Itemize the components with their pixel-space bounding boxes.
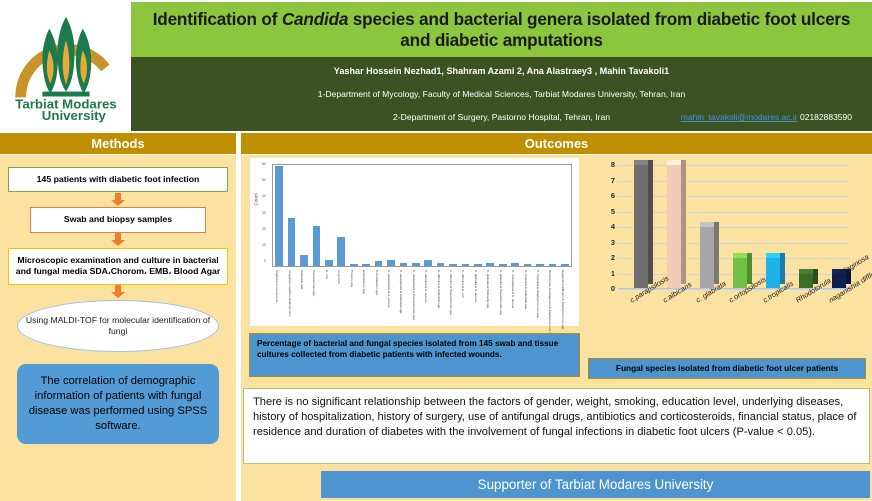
contact-phone: 02182883590 [800, 112, 852, 122]
bar-12 [424, 260, 432, 266]
bar-21 [536, 264, 544, 266]
xlabel-18: C. glabrata & Pseudomonas spp. [499, 270, 503, 315]
poster-root: Tarbiat Modares University Identificatio… [0, 0, 872, 501]
bar-15 [462, 264, 470, 266]
xlabel-23: Naganishia diffluens & Staphylococcus sp… [561, 270, 565, 330]
section-header-methods: Methods [0, 133, 236, 154]
xlabel-0: Staphylococcus aureus [275, 270, 279, 302]
bar-top [634, 160, 648, 165]
bar-8 [375, 261, 383, 266]
xlabel-14: C. albicans & Pseudomonas spp. [449, 270, 453, 316]
method-step-3: Microscopic examination and culture in b… [8, 248, 228, 285]
fungal-chart-panel: 012345678 c.parapsilosisc.albicansc. gla… [588, 157, 866, 355]
bar-top [667, 160, 681, 165]
xlabel-19: C. orthopsilosis & S. aureus [511, 270, 515, 308]
bar-top [700, 222, 714, 227]
bar-0 [275, 166, 283, 266]
bacterial-chart-panel: Count 0102030405060 Staphylococcus aureu… [249, 157, 580, 327]
bar-side [681, 160, 686, 284]
fungal-ytick-3: 3 [602, 238, 615, 247]
down-arrow-icon [110, 285, 126, 299]
university-logo: Tarbiat Modares University [0, 0, 131, 131]
logo-text-line2: University [41, 108, 106, 123]
xlabel-11: C. parapsilosis & Pseudomonas spp. [412, 270, 416, 321]
bar-front [766, 258, 780, 289]
supporter-banner: Supporter of Tarbiat Modares University [321, 471, 870, 498]
methods-column: 145 patients with diabetic foot infectio… [0, 155, 236, 501]
xlabel-8: Acinetobacter spp. [375, 270, 379, 296]
bar-side [714, 222, 719, 284]
poster-title-band: Identification of Candida species and ba… [131, 2, 872, 57]
fungal-bar-0 [634, 165, 648, 289]
xlabel-2: Klebsiella spp. [300, 270, 304, 290]
authors-affiliations-band: Yashar Hossein Nezhad1, Shahram Azami 2,… [131, 57, 872, 131]
xlabel-16: C. glabrata & S. aureus [474, 270, 478, 302]
method-step-1: 145 patients with diabetic foot infectio… [8, 167, 228, 192]
poster-header: Tarbiat Modares University Identificatio… [0, 0, 872, 131]
bar-front [667, 165, 681, 289]
xlabel-1: coagulase-negative staphylococci [288, 270, 292, 316]
affiliation-1: 1-Department of Mycology, Faculty of Med… [131, 89, 872, 99]
xlabel-4: E. coli [325, 270, 329, 278]
fungal-bar-4 [766, 258, 780, 289]
bacterial-chart-bars [273, 165, 571, 266]
spss-analysis-box: The correlation of demographic informati… [17, 364, 219, 444]
fungal-ytick-2: 2 [602, 253, 615, 262]
bar-14 [449, 264, 457, 266]
gridline-5 [618, 212, 850, 213]
flow-arrow-1 [8, 192, 228, 207]
bar-6 [350, 264, 358, 266]
xlabel-9: C. parapsilosis & S. aureus [387, 270, 391, 307]
ytick-0: 0 [252, 259, 266, 263]
bacterial-chart-caption: Percentage of bacterial and fungal speci… [249, 333, 580, 377]
xlabel-15: C. albicans & E. coli [461, 270, 465, 298]
gridline-3 [618, 243, 850, 244]
ytick-60: 60 [252, 162, 266, 166]
gridline-7 [618, 181, 850, 182]
ytick-10: 10 [252, 243, 266, 247]
xlabel-10: C. parapsilosis & Klebsiella spp. [399, 270, 403, 314]
ytick-30: 30 [252, 211, 266, 215]
title-italic-candida: Candida [282, 9, 348, 29]
bar-13 [437, 263, 445, 266]
bar-17 [486, 263, 494, 266]
fungal-ytick-4: 4 [602, 222, 615, 231]
contact-info: mahin_tavakoli@modares.ac.ir 02182883590 [681, 112, 852, 122]
tarbiat-modares-logo-icon: Tarbiat Modares University [7, 7, 125, 125]
flow-arrow-3 [8, 285, 228, 300]
fungal-chart-plot-area: 012345678 [618, 165, 850, 289]
gridline-6 [618, 196, 850, 197]
bar-3 [313, 226, 321, 266]
fungal-ytick-8: 8 [602, 160, 615, 169]
bar-7 [362, 264, 370, 266]
ytick-20: 20 [252, 227, 266, 231]
bar-2 [300, 255, 308, 266]
xlabel-6: Proteus spp. [350, 270, 354, 287]
bar-5 [337, 237, 345, 266]
section-header-outcomes: Outcomes [241, 133, 872, 154]
bar-18 [499, 264, 507, 266]
bar-top [733, 253, 747, 258]
xlabel-20: C. tropicalis & Klebsiella spp. [524, 270, 528, 310]
bar-9 [387, 260, 395, 266]
xlabel-17: C. glabrata & Klebsiella spp. [486, 270, 490, 309]
bar-side [747, 253, 752, 284]
outcomes-column: Count 0102030405060 Staphylococcus aureu… [241, 155, 872, 501]
bar-23 [561, 264, 569, 266]
page-title: Identification of Candida species and ba… [131, 9, 872, 50]
bar-20 [524, 264, 532, 266]
title-segment-1: Identification of [153, 9, 282, 29]
title-segment-2: species and bacterial genera isolated fr… [348, 9, 850, 49]
gridline-4 [618, 227, 850, 228]
xlabel-13: C. albicans & Klebsiella spp. [437, 270, 441, 309]
bar-22 [549, 264, 557, 266]
bar-top [799, 269, 813, 274]
down-arrow-icon [110, 233, 126, 247]
xlabel-21: C. tropicalis & Staphylococcus spp. [536, 270, 540, 318]
down-arrow-icon [110, 193, 126, 207]
bacterial-chart-plot-area [272, 164, 572, 267]
bar-side [648, 160, 653, 284]
fungal-ytick-1: 1 [602, 269, 615, 278]
bar-1 [288, 218, 296, 267]
bar-16 [474, 264, 482, 266]
gridline-8 [618, 165, 850, 166]
bar-front [634, 165, 648, 289]
fungal-ytick-7: 7 [602, 176, 615, 185]
author-list: Yashar Hossein Nezhad1, Shahram Azami 2,… [131, 66, 872, 76]
ytick-40: 40 [252, 194, 266, 198]
xlabel-22: Rhodotorula mucilaginosa & Staphylococcu… [548, 270, 552, 338]
fungal-chart-caption: Fungal species isolated from diabetic fo… [588, 358, 866, 379]
bar-top [766, 253, 780, 258]
bar-11 [412, 263, 420, 266]
flow-arrow-2 [8, 233, 228, 248]
xlabel-7: Enterobacter spp. [362, 270, 366, 294]
fungal-ytick-0: 0 [602, 284, 615, 293]
xlabel-12: C. albicans & S. aureus [424, 270, 428, 302]
conclusion-text: There is no significant relationship bet… [243, 388, 870, 464]
xlabel-3: Pseudomonas spp. [312, 270, 316, 297]
bar-side [780, 253, 785, 284]
bar-19 [511, 263, 519, 266]
fungal-bar-1 [667, 165, 681, 289]
fungal-ytick-6: 6 [602, 191, 615, 200]
bar-front [700, 227, 714, 289]
contact-email-link[interactable]: mahin_tavakoli@modares.ac.ir [681, 112, 798, 122]
method-step-2: Swab and biopsy samples [30, 207, 206, 232]
fungal-bar-2 [700, 227, 714, 289]
method-step-4: Using MALDI-TOF for molecular identifica… [17, 300, 219, 352]
bar-10 [400, 263, 408, 266]
ytick-50: 50 [252, 178, 266, 182]
fungal-ytick-5: 5 [602, 207, 615, 216]
xlabel-5: no growth [337, 270, 341, 284]
bar-4 [325, 260, 333, 266]
